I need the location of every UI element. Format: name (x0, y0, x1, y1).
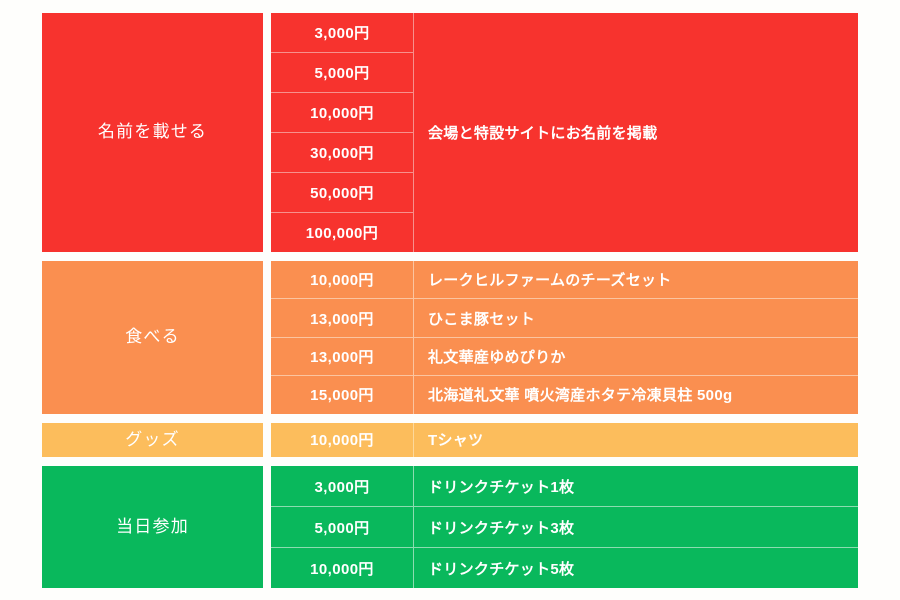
description-label: 北海道礼文華 噴火湾産ホタテ冷凍貝柱 500g (428, 384, 732, 405)
table-row: 10,000円レークヒルファームのチーズセット (271, 261, 858, 298)
price-cell: 13,000円 (271, 299, 413, 336)
price-label: 5,000円 (315, 62, 370, 83)
price-label: 13,000円 (310, 308, 374, 329)
rows-wrap-name-listing: 3,000円5,000円10,000円30,000円50,000円100,000… (271, 13, 858, 252)
price-cell: 30,000円 (271, 133, 413, 172)
description-cell: 礼文華産ゆめぴりか (414, 338, 858, 375)
tier-group-eat: 食べる10,000円レークヒルファームのチーズセット13,000円ひこま豚セット… (42, 261, 858, 414)
reward-tier-table: 名前を載せる3,000円5,000円10,000円30,000円50,000円1… (42, 13, 858, 588)
description-label: レークヒルファームのチーズセット (428, 269, 672, 290)
description-label: 礼文華産ゆめぴりか (428, 346, 566, 367)
price-cell: 5,000円 (271, 53, 413, 92)
price-label: 5,000円 (315, 517, 370, 538)
table-row: 10,000円ドリンクチケット5枚 (271, 548, 858, 588)
price-label: 10,000円 (310, 102, 374, 123)
price-cell: 10,000円 (271, 261, 413, 298)
tier-group-same-day-participation: 当日参加3,000円ドリンクチケット1枚5,000円ドリンクチケット3枚10,0… (42, 466, 858, 588)
description-cell: ひこま豚セット (414, 299, 858, 336)
table-row: 10,000円Tシャツ (271, 423, 858, 457)
rows-wrap-same-day-participation: 3,000円ドリンクチケット1枚5,000円ドリンクチケット3枚10,000円ド… (271, 466, 858, 588)
category-label: 当日参加 (116, 517, 189, 537)
price-cell: 10,000円 (271, 548, 413, 588)
category-label: 名前を載せる (98, 122, 207, 142)
category-cell-name-listing: 名前を載せる (42, 13, 263, 252)
price-cell: 5,000円 (271, 507, 413, 547)
category-cell-same-day-participation: 当日参加 (42, 466, 263, 588)
price-label: 100,000円 (306, 222, 378, 243)
description-label: 会場と特設サイトにお名前を掲載 (428, 122, 658, 143)
price-label: 50,000円 (310, 182, 374, 203)
category-label: 食べる (125, 327, 180, 347)
category-cell-goods: グッズ (42, 423, 263, 457)
price-label: 30,000円 (310, 142, 374, 163)
description-cell: ドリンクチケット1枚 (414, 466, 858, 506)
price-cell: 50,000円 (271, 173, 413, 212)
price-label: 10,000円 (310, 429, 374, 450)
category-cell-eat: 食べる (42, 261, 263, 414)
price-column: 3,000円5,000円10,000円30,000円50,000円100,000… (271, 13, 413, 252)
price-cell: 3,000円 (271, 13, 413, 52)
price-label: 10,000円 (310, 558, 374, 579)
price-label: 15,000円 (310, 384, 374, 405)
rows-wrap-eat: 10,000円レークヒルファームのチーズセット13,000円ひこま豚セット13,… (271, 261, 858, 414)
table-row: 15,000円北海道礼文華 噴火湾産ホタテ冷凍貝柱 500g (271, 376, 858, 413)
price-cell: 3,000円 (271, 466, 413, 506)
description-label: Tシャツ (428, 429, 483, 450)
description-cell: Tシャツ (414, 423, 858, 457)
description-label: ドリンクチケット3枚 (428, 517, 574, 538)
table-row: 3,000円ドリンクチケット1枚 (271, 466, 858, 506)
description-label: ドリンクチケット1枚 (428, 476, 574, 497)
price-label: 10,000円 (310, 269, 374, 290)
price-cell: 15,000円 (271, 376, 413, 413)
price-label: 3,000円 (315, 22, 370, 43)
tier-group-goods: グッズ10,000円Tシャツ (42, 423, 858, 457)
rows-wrap-goods: 10,000円Tシャツ (271, 423, 858, 457)
merged-block-name-listing: 3,000円5,000円10,000円30,000円50,000円100,000… (271, 13, 858, 252)
table-row: 13,000円礼文華産ゆめぴりか (271, 338, 858, 375)
description-label: ドリンクチケット5枚 (428, 558, 574, 579)
description-cell: レークヒルファームのチーズセット (414, 261, 858, 298)
price-cell: 100,000円 (271, 213, 413, 252)
price-cell: 13,000円 (271, 338, 413, 375)
description-cell: ドリンクチケット5枚 (414, 548, 858, 588)
price-cell: 10,000円 (271, 93, 413, 132)
table-row: 13,000円ひこま豚セット (271, 299, 858, 336)
price-cell: 10,000円 (271, 423, 413, 457)
description-cell: ドリンクチケット3枚 (414, 507, 858, 547)
category-label: グッズ (125, 430, 180, 450)
tier-group-name-listing: 名前を載せる3,000円5,000円10,000円30,000円50,000円1… (42, 13, 858, 252)
price-label: 13,000円 (310, 346, 374, 367)
price-label: 3,000円 (315, 476, 370, 497)
table-row: 5,000円ドリンクチケット3枚 (271, 507, 858, 547)
description-cell: 北海道礼文華 噴火湾産ホタテ冷凍貝柱 500g (414, 376, 858, 413)
description-label: ひこま豚セット (428, 308, 535, 329)
description-cell: 会場と特設サイトにお名前を掲載 (414, 13, 858, 252)
